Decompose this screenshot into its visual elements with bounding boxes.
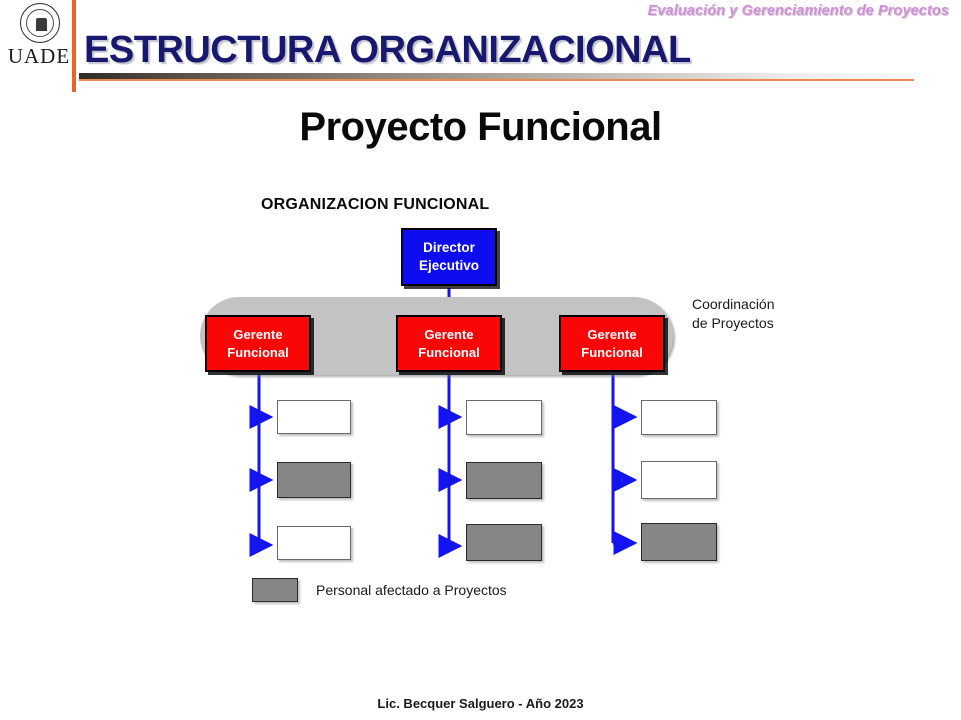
legend-label: Personal afectado a Proyectos	[316, 582, 507, 598]
director-line-1: Director	[423, 239, 475, 257]
legend-swatch	[252, 578, 298, 602]
node-gerente-funcional-2[interactable]: Gerente Funcional	[396, 315, 502, 372]
annotation-coordinacion-de-proyectos: Coordinación de Proyectos	[692, 295, 775, 333]
node-director-ejecutivo[interactable]: Director Ejecutivo	[401, 228, 497, 286]
gerente-3-line-2: Funcional	[581, 344, 642, 362]
node-gerente-funcional-1[interactable]: Gerente Funcional	[205, 315, 311, 372]
staff-box-col2-row3[interactable]	[466, 524, 542, 561]
staff-box-col3-row3[interactable]	[641, 523, 717, 561]
gerente-2-line-2: Funcional	[418, 344, 479, 362]
staff-box-col2-row2[interactable]	[466, 462, 542, 499]
gerente-1-line-1: Gerente	[233, 326, 282, 344]
gerente-1-line-2: Funcional	[227, 344, 288, 362]
staff-box-col1-row3[interactable]	[277, 526, 351, 560]
footer-credit: Lic. Becquer Salguero - Año 2023	[0, 696, 961, 711]
gerente-2-line-1: Gerente	[424, 326, 473, 344]
annotation-line-1: Coordinación	[692, 295, 775, 314]
director-line-2: Ejecutivo	[419, 257, 479, 275]
staff-box-col1-row2[interactable]	[277, 462, 351, 498]
staff-box-col3-row2[interactable]	[641, 461, 717, 499]
staff-box-col2-row1[interactable]	[466, 400, 542, 435]
org-chart: ORGANIZACION FUNCIONAL	[0, 0, 961, 720]
annotation-line-2: de Proyectos	[692, 314, 775, 333]
gerente-3-line-1: Gerente	[587, 326, 636, 344]
staff-box-col3-row1[interactable]	[641, 400, 717, 435]
node-gerente-funcional-3[interactable]: Gerente Funcional	[559, 315, 665, 372]
staff-box-col1-row1[interactable]	[277, 400, 351, 434]
